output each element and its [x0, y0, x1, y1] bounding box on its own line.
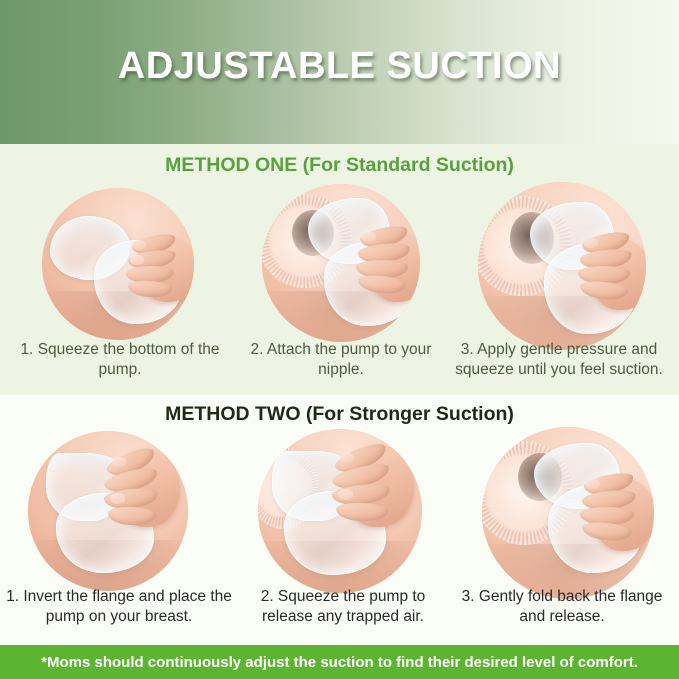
method-two-step-2-caption: 2. Squeeze the pump to release any trapp… — [238, 587, 448, 626]
method-two-step-3-image — [482, 427, 654, 599]
method-two-heading: METHOD TWO (For Stronger Suction) — [0, 403, 679, 426]
method-one-step-1-image — [42, 188, 194, 340]
fingernail — [362, 232, 376, 242]
footer-note-text: *Moms should continuously adjust the suc… — [41, 654, 638, 671]
page-title: ADJUSTABLE SUCTION — [0, 45, 679, 88]
method-two-step-1-image — [28, 431, 188, 591]
fingernail — [110, 493, 125, 504]
infographic-page: ADJUSTABLE SUCTION METHOD ONE (For Stand… — [0, 0, 679, 679]
method-two-photo-row — [0, 431, 679, 583]
fingernail — [586, 479, 600, 489]
header-banner: ADJUSTABLE SUCTION — [0, 0, 679, 144]
method-one-step-2-caption: 2. Attach the pump to your nipple. — [232, 340, 450, 379]
method-one-step-3-image — [478, 182, 646, 350]
method-two-step-2-image — [258, 429, 422, 593]
method-two-step-3-caption: 3. Gently fold back the flange and relea… — [448, 587, 676, 626]
method-two-section: METHOD TWO (For Stronger Suction) — [0, 395, 679, 645]
method-one-heading: METHOD ONE (For Standard Suction) — [0, 154, 679, 177]
method-one-section: METHOD ONE (For Standard Suction) — [0, 144, 679, 395]
fingernail — [130, 255, 144, 265]
footer-note-bar: *Moms should continuously adjust the suc… — [0, 645, 679, 679]
method-one-step-1-caption: 1. Squeeze the bottom of the pump. — [8, 340, 232, 379]
method-one-step-3-caption: 3. Apply gentle pressure and squeeze unt… — [442, 340, 676, 379]
fingernail — [112, 457, 126, 467]
method-one-photo-row — [0, 188, 679, 340]
fingernail — [584, 238, 598, 248]
fingernail — [338, 489, 353, 500]
fingernail — [340, 453, 354, 463]
fingernail — [132, 240, 146, 250]
method-two-step-1-caption: 1. Invert the flange and place the pump … — [0, 587, 238, 626]
method-one-step-2-image — [262, 184, 420, 342]
